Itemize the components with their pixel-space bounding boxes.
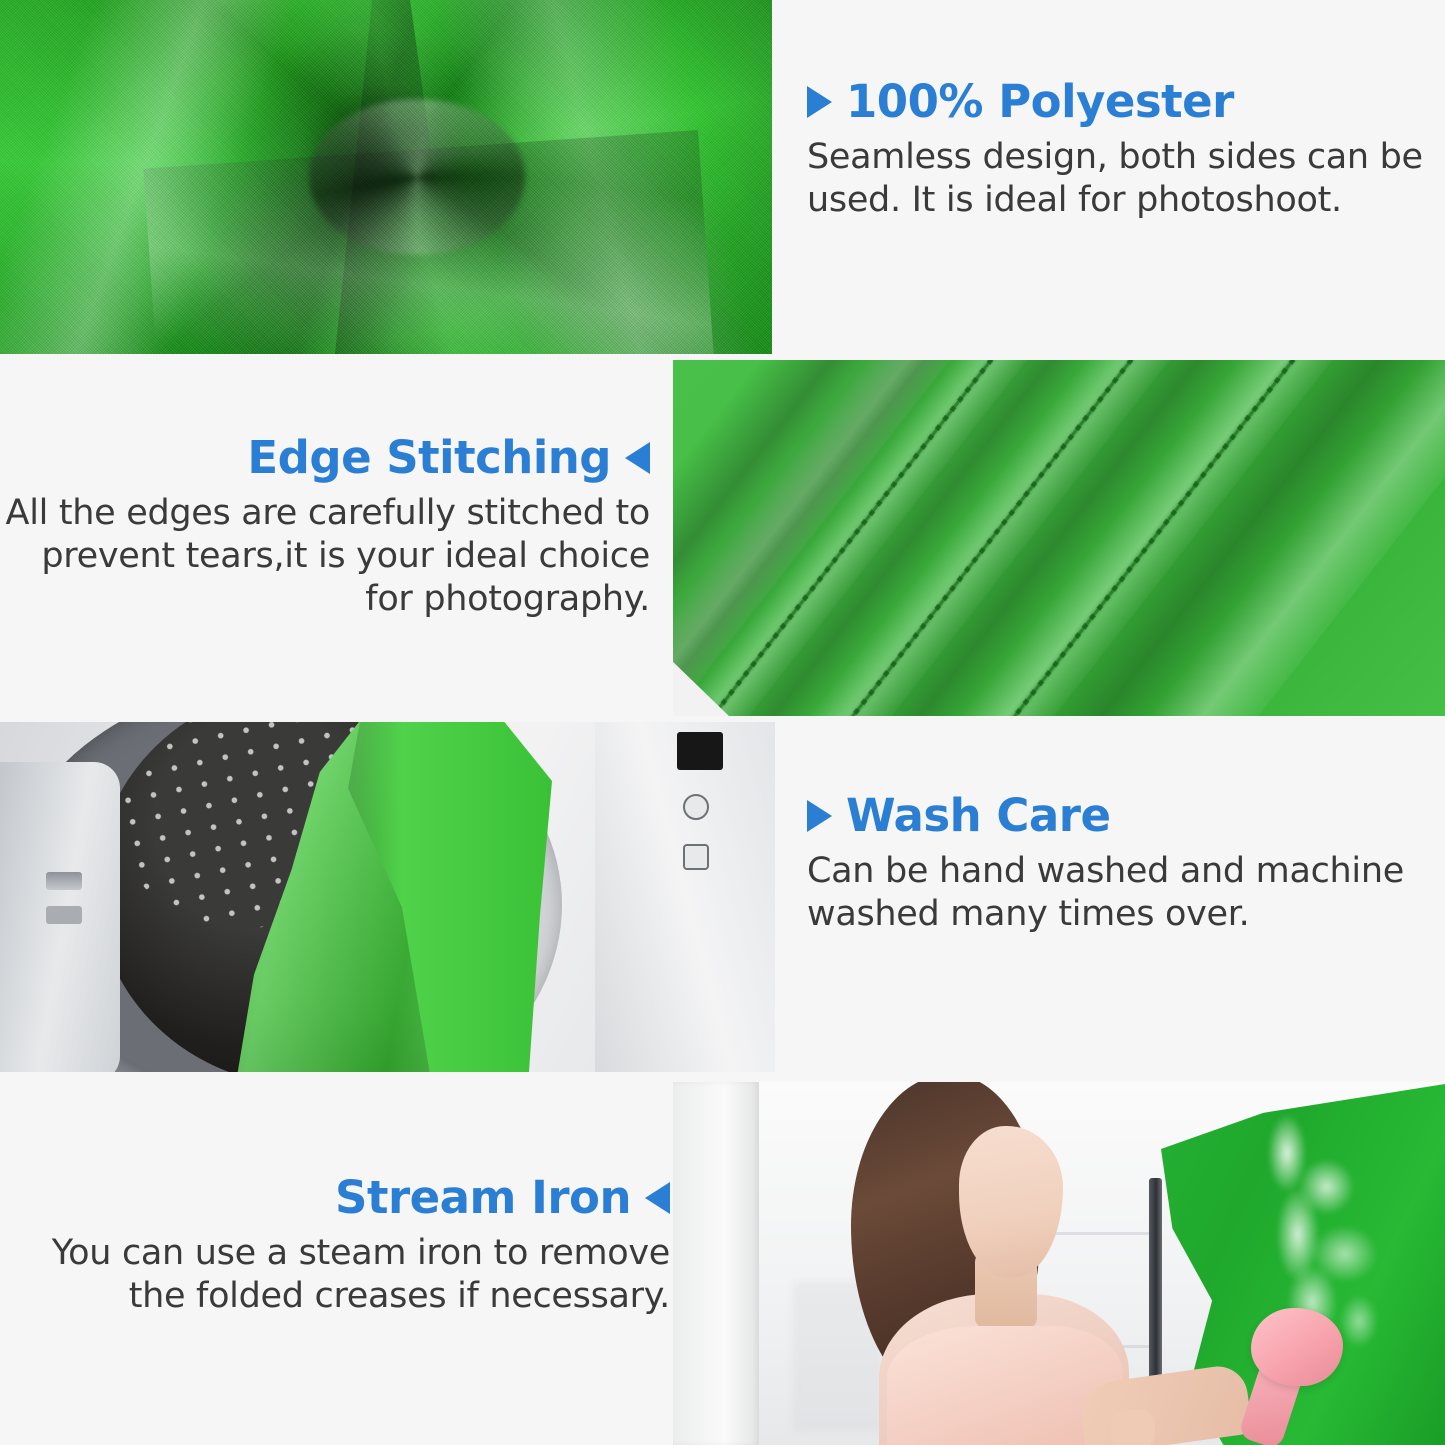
wash-care-heading-label: Wash Care bbox=[846, 792, 1111, 839]
wash-care-text-block: Wash Care Can be hand washed and machine… bbox=[807, 792, 1432, 971]
model-hand bbox=[1111, 1410, 1155, 1445]
edge-stitching-photo bbox=[673, 360, 1445, 716]
washer-door-latch bbox=[46, 872, 82, 890]
triangle-right-icon bbox=[807, 800, 832, 832]
edge-stitching-body-text: All the edges are carefully stitched to … bbox=[0, 492, 650, 620]
wash-care-heading: Wash Care bbox=[807, 792, 1432, 839]
polyester-heading-label: 100% Polyester bbox=[846, 78, 1234, 125]
triangle-left-icon bbox=[625, 442, 650, 474]
feature-panel-stream-iron: Stream Iron You can use a steam iron to … bbox=[0, 1082, 1445, 1445]
handheld-steamer bbox=[1251, 1308, 1343, 1386]
feature-panel-wash-care: Wash Care Can be hand washed and machine… bbox=[0, 722, 1445, 1082]
stream-iron-heading-label: Stream Iron bbox=[335, 1174, 631, 1221]
wash-care-body-text: Can be hand washed and machine washed ma… bbox=[807, 850, 1432, 935]
edge-stitching-heading-label: Edge Stitching bbox=[247, 434, 611, 481]
polyester-fabric-photo bbox=[0, 0, 772, 354]
product-feature-infographic: 100% Polyester Seamless design, both sid… bbox=[0, 0, 1445, 1445]
edge-stitching-text-block: Edge Stitching All the edges are careful… bbox=[0, 434, 650, 655]
stream-iron-heading: Stream Iron bbox=[40, 1174, 670, 1221]
stream-iron-body-text: You can use a steam iron to remove the f… bbox=[40, 1232, 670, 1317]
washer-cabinet-left bbox=[0, 762, 120, 1072]
stream-iron-text-block: Stream Iron You can use a steam iron to … bbox=[40, 1174, 670, 1353]
feature-panel-edge-stitching: Edge Stitching All the edges are careful… bbox=[0, 354, 1445, 722]
steam-iron-photo bbox=[673, 1082, 1445, 1445]
triangle-right-icon bbox=[807, 86, 832, 118]
edge-stitching-heading: Edge Stitching bbox=[0, 434, 650, 481]
washer-lock-icon bbox=[683, 844, 709, 870]
room-wall-panel bbox=[673, 1082, 759, 1445]
feature-panel-polyester: 100% Polyester Seamless design, both sid… bbox=[0, 0, 1445, 354]
washer-display bbox=[677, 732, 723, 770]
polyester-body-text: Seamless design, both sides can be used.… bbox=[807, 136, 1432, 221]
photo-corner-cut bbox=[673, 660, 731, 716]
triangle-left-icon bbox=[645, 1182, 670, 1214]
polyester-heading: 100% Polyester bbox=[807, 78, 1432, 125]
washing-machine-photo bbox=[0, 722, 775, 1072]
washer-knob-icon bbox=[683, 794, 709, 820]
fabric-weave-texture bbox=[0, 0, 772, 354]
washer-control-panel bbox=[595, 722, 775, 1072]
polyester-text-block: 100% Polyester Seamless design, both sid… bbox=[807, 78, 1432, 257]
